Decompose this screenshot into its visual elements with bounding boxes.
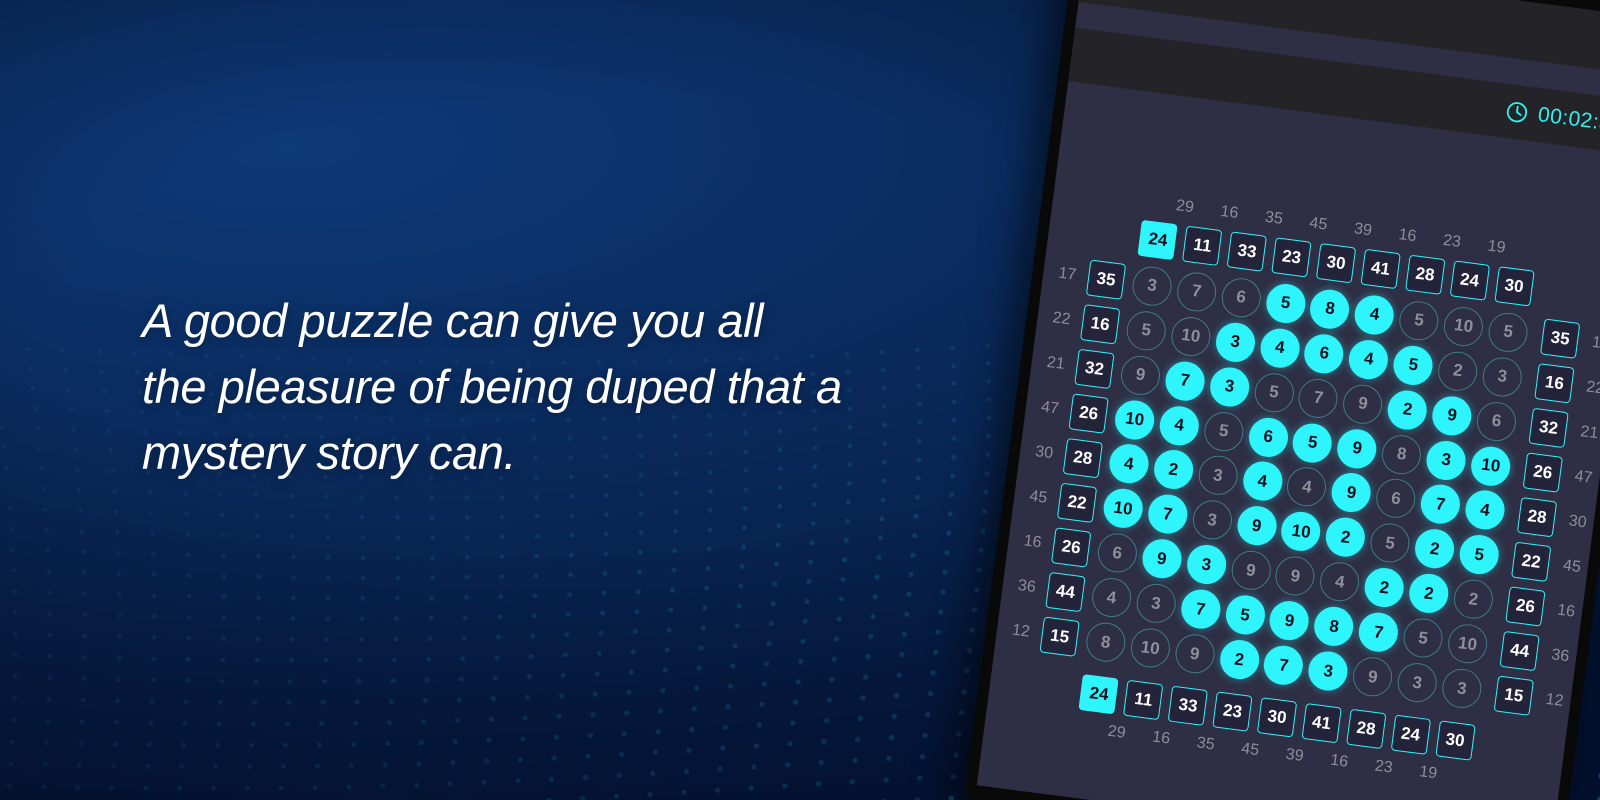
grid-cell[interactable]: 4	[1090, 576, 1134, 620]
top-clue[interactable]: 28	[1405, 255, 1445, 295]
number-grid: 3765845105510346452397357929610456598310…	[1081, 261, 1534, 714]
grid-cell[interactable]: 6	[1302, 332, 1346, 376]
grid-cell[interactable]: 8	[1308, 287, 1352, 331]
grid-cell[interactable]: 3	[1130, 264, 1174, 308]
grid-cell[interactable]: 9	[1430, 394, 1474, 438]
left-outer-number: 30	[1026, 439, 1063, 467]
top-clue[interactable]: 24	[1449, 260, 1489, 300]
promo-banner: A good puzzle can give you all the pleas…	[0, 0, 1600, 800]
bottom-outer-number: 16	[1143, 725, 1180, 753]
puzzle-board: 2916354539162319 241133233041282430 1722…	[1016, 196, 1599, 779]
grid-cell[interactable]: 2	[1407, 572, 1451, 616]
left-outer-number: 21	[1037, 350, 1074, 378]
grid-cell[interactable]: 4	[1241, 460, 1285, 504]
grid-cell[interactable]: 9	[1268, 599, 1312, 643]
grid-cell[interactable]: 4	[1347, 338, 1391, 382]
bottom-clue[interactable]: 33	[1168, 686, 1208, 726]
right-clue[interactable]: 22	[1511, 541, 1551, 581]
phone-screen: Expert 00:02:57 2916354539162319 2411332…	[977, 0, 1600, 800]
grid-cell[interactable]: 7	[1146, 493, 1190, 537]
grid-cell[interactable]: 2	[1363, 566, 1407, 610]
grid-cell[interactable]: 4	[1353, 293, 1397, 337]
grid-cell[interactable]: 4	[1463, 489, 1507, 533]
left-clue[interactable]: 26	[1068, 393, 1108, 433]
top-clue[interactable]: 41	[1360, 249, 1400, 289]
top-clue[interactable]: 24	[1138, 220, 1178, 260]
right-outer-number: 17	[1582, 330, 1600, 358]
grid-cell[interactable]: 4	[1157, 404, 1201, 448]
grid-cell[interactable]: 6	[1219, 276, 1263, 320]
grid-cell[interactable]: 8	[1312, 605, 1356, 649]
grid-cell[interactable]: 10	[1442, 305, 1486, 349]
grid-cell[interactable]: 10	[1101, 487, 1145, 531]
right-outer-number: 22	[1577, 375, 1600, 403]
left-outer-number: 17	[1049, 261, 1086, 289]
left-clue[interactable]: 35	[1086, 260, 1126, 300]
left-outer-number: 12	[1003, 617, 1040, 645]
top-clue[interactable]: 33	[1227, 231, 1267, 271]
left-clue[interactable]: 16	[1080, 304, 1120, 344]
grid-cell[interactable]: 5	[1223, 593, 1267, 637]
bottom-clue[interactable]: 41	[1301, 703, 1341, 743]
left-clue[interactable]: 32	[1074, 349, 1114, 389]
grid-cell[interactable]: 7	[1179, 587, 1223, 631]
bottom-clue[interactable]: 24	[1390, 715, 1430, 755]
top-clue[interactable]: 23	[1271, 237, 1311, 277]
grid-cell[interactable]: 3	[1196, 454, 1240, 498]
grid-cell[interactable]: 7	[1163, 359, 1207, 403]
left-outer-number: 16	[1014, 528, 1051, 556]
grid-cell[interactable]: 3	[1306, 649, 1350, 693]
bottom-outer-number: 23	[1365, 753, 1402, 781]
grid-cell[interactable]: 3	[1395, 661, 1439, 705]
top-outer-number: 39	[1345, 216, 1382, 244]
right-outer-number: 30	[1559, 508, 1596, 536]
top-outer-number: 45	[1300, 210, 1337, 238]
grid-cell[interactable]: 6	[1475, 400, 1519, 444]
right-outer-number: 47	[1565, 464, 1600, 492]
grid-cell[interactable]: 10	[1113, 398, 1157, 442]
bottom-outer-number: 16	[1321, 748, 1358, 776]
grid-cell[interactable]: 10	[1169, 315, 1213, 359]
bottom-outer-number: 35	[1187, 730, 1224, 758]
top-outer-number: 19	[1478, 234, 1515, 262]
grid-cell[interactable]: 9	[1341, 382, 1385, 426]
top-clue[interactable]: 30	[1316, 243, 1356, 283]
grid-cell[interactable]: 9	[1330, 471, 1374, 515]
clock-icon	[1504, 99, 1531, 126]
right-clue[interactable]: 15	[1494, 675, 1534, 715]
quote-text: A good puzzle can give you all the pleas…	[142, 288, 1022, 486]
grid-cell[interactable]: 3	[1440, 667, 1484, 711]
grid-cell[interactable]: 5	[1124, 309, 1168, 353]
grid-cell[interactable]: 2	[1386, 388, 1430, 432]
top-outer-number: 16	[1211, 199, 1248, 227]
grid-cell[interactable]: 2	[1452, 578, 1496, 622]
grid-cell[interactable]: 5	[1291, 421, 1335, 465]
left-outer-number: 22	[1043, 306, 1080, 334]
grid-cell[interactable]: 3	[1424, 438, 1468, 482]
grid-cell[interactable]: 9	[1119, 353, 1163, 397]
top-outer-number: 29	[1166, 193, 1203, 221]
right-clue[interactable]: 32	[1528, 408, 1568, 448]
grid-cell[interactable]: 4	[1285, 465, 1329, 509]
grid-cell[interactable]: 7	[1262, 643, 1306, 687]
bottom-outer-number: 45	[1232, 736, 1269, 764]
grid-cell[interactable]: 4	[1318, 560, 1362, 604]
bottom-clue[interactable]: 23	[1212, 691, 1252, 731]
bottom-clue[interactable]: 28	[1346, 709, 1386, 749]
left-clue[interactable]: 22	[1057, 483, 1097, 523]
grid-cell[interactable]: 10	[1446, 622, 1490, 666]
bottom-outer-number: 39	[1276, 742, 1313, 770]
grid-cell[interactable]: 10	[1128, 626, 1172, 670]
grid-cell[interactable]: 5	[1202, 409, 1246, 453]
grid-cell[interactable]: 5	[1401, 616, 1445, 660]
bottom-clue[interactable]: 11	[1123, 680, 1163, 720]
grid-cell[interactable]: 5	[1264, 282, 1308, 326]
grid-cell[interactable]: 7	[1297, 376, 1341, 420]
left-clue[interactable]: 44	[1045, 572, 1085, 612]
grid-cell[interactable]: 9	[1229, 549, 1273, 593]
right-clue[interactable]: 35	[1540, 319, 1580, 359]
grid-cell[interactable]: 6	[1095, 531, 1139, 575]
left-outer-number: 47	[1032, 395, 1069, 423]
grid-cell[interactable]: 2	[1217, 638, 1261, 682]
grid-cell[interactable]: 3	[1480, 355, 1524, 399]
grid-cell[interactable]: 8	[1380, 432, 1424, 476]
grid-cell[interactable]: 2	[1152, 448, 1196, 492]
grid-cell[interactable]: 5	[1457, 533, 1501, 577]
grid-cell[interactable]: 10	[1279, 510, 1323, 554]
top-clue-row: 241133233041282430	[1083, 196, 1599, 263]
bottom-outer-number: 29	[1098, 719, 1135, 747]
grid-cell[interactable]: 2	[1324, 516, 1368, 560]
grid-cell[interactable]: 4	[1107, 442, 1151, 486]
top-clue[interactable]: 30	[1494, 266, 1534, 306]
grid-cell[interactable]: 5	[1391, 343, 1435, 387]
right-outer-number: 12	[1536, 686, 1573, 714]
right-outer-number: 36	[1542, 642, 1579, 670]
right-clue[interactable]: 44	[1499, 631, 1539, 671]
bottom-clue[interactable]: 30	[1435, 720, 1475, 760]
left-outer-number: 36	[1008, 573, 1045, 601]
grid-cell[interactable]: 5	[1368, 521, 1412, 565]
grid-cell[interactable]: 9	[1273, 554, 1317, 598]
grid-cell[interactable]: 6	[1374, 477, 1418, 521]
right-outer-number: 45	[1553, 553, 1590, 581]
grid-cell[interactable]: 3	[1134, 582, 1178, 626]
grid-cell[interactable]: 6	[1246, 415, 1290, 459]
grid-cell[interactable]: 9	[1173, 632, 1217, 676]
grid-cell[interactable]: 3	[1190, 498, 1234, 542]
grid-cell[interactable]: 3	[1208, 365, 1252, 409]
top-clue[interactable]: 11	[1182, 226, 1222, 266]
left-clue[interactable]: 15	[1040, 616, 1080, 656]
bottom-clue[interactable]: 24	[1079, 674, 1119, 714]
grid-cell[interactable]: 7	[1175, 270, 1219, 314]
bottom-outer-number: 19	[1410, 759, 1447, 787]
top-outer-number: 23	[1434, 228, 1471, 256]
bottom-clue[interactable]: 30	[1257, 697, 1297, 737]
right-clue[interactable]: 26	[1505, 586, 1545, 626]
right-outer-number: 16	[1548, 597, 1585, 625]
right-outer-number: 21	[1571, 419, 1600, 447]
grid-cell[interactable]: 3	[1184, 543, 1228, 587]
grid-cell[interactable]: 2	[1436, 349, 1480, 393]
grid-cell[interactable]: 8	[1084, 620, 1128, 664]
top-outer-number: 16	[1389, 222, 1426, 250]
grid-cell[interactable]: 9	[1235, 504, 1279, 548]
left-clue[interactable]: 26	[1051, 527, 1091, 567]
grid-cell[interactable]: 9	[1140, 537, 1184, 581]
left-clue[interactable]: 28	[1063, 438, 1103, 478]
right-clue[interactable]: 28	[1517, 497, 1557, 537]
grid-cell[interactable]: 9	[1351, 655, 1395, 699]
grid-cell[interactable]: 7	[1357, 611, 1401, 655]
right-clue[interactable]: 16	[1534, 363, 1574, 403]
grid-cell[interactable]: 10	[1469, 444, 1513, 488]
right-clue[interactable]: 26	[1523, 452, 1563, 492]
grid-cell[interactable]: 5	[1252, 371, 1296, 415]
grid-cell[interactable]: 5	[1397, 299, 1441, 343]
grid-cell[interactable]: 2	[1413, 527, 1457, 571]
timer-value: 00:02:57	[1537, 103, 1600, 138]
grid-cell[interactable]: 4	[1258, 326, 1302, 370]
grid-cell[interactable]: 3	[1213, 320, 1257, 364]
grid-cell[interactable]: 9	[1335, 427, 1379, 471]
grid-cell[interactable]: 7	[1419, 483, 1463, 527]
grid-cell[interactable]: 5	[1486, 310, 1530, 354]
top-outer-number: 35	[1255, 205, 1292, 233]
left-outer-number: 45	[1020, 484, 1057, 512]
phone-mockup: Expert 00:02:57 2916354539162319 2411332…	[963, 0, 1600, 800]
